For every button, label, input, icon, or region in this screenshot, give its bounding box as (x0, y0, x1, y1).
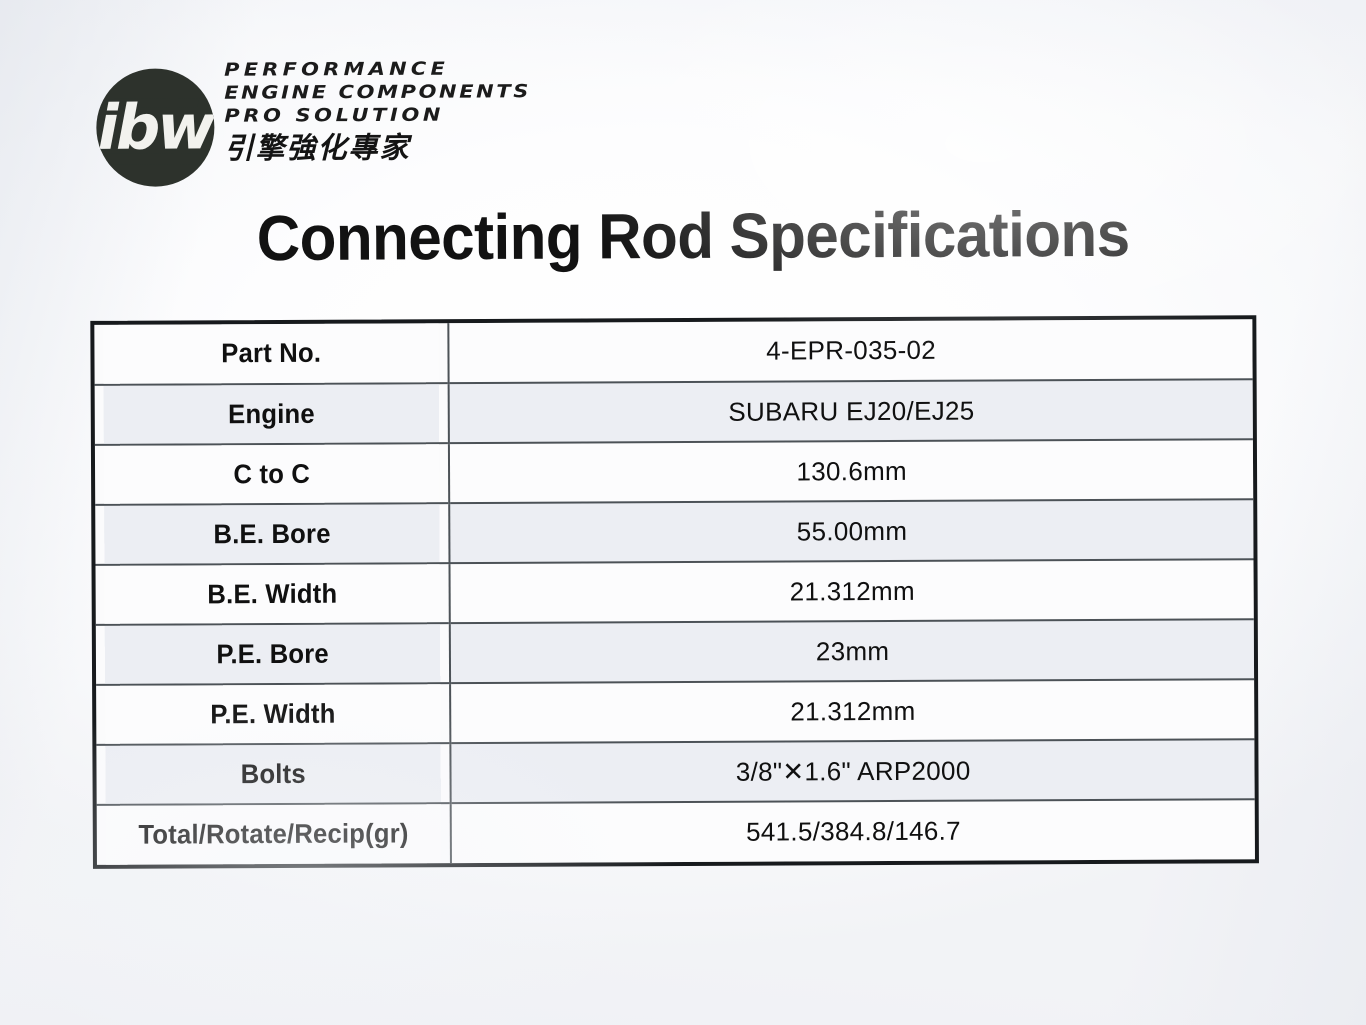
spec-label: Total/Rotate/Recip(gr) (106, 803, 443, 865)
tagline-line-1: PERFORMANCE (224, 58, 614, 80)
table-row: B.E. Bore 55.00mm (95, 499, 1253, 565)
logo-wordmark: ibw (96, 96, 215, 159)
spec-value: 21.312mm (450, 559, 1254, 623)
spec-table: Part No. 4-EPR-035-02 Engine SUBARU EJ20… (94, 319, 1255, 865)
spec-value: 55.00mm (450, 499, 1254, 563)
spec-value: 21.312mm (450, 679, 1254, 743)
ibw-logo-icon: ibw (96, 68, 215, 187)
page-title: Connecting Rod Specifications (40, 195, 1324, 277)
table-row: B.E. Width 21.312mm (95, 559, 1253, 625)
table-row: P.E. Bore 23mm (96, 619, 1254, 685)
chinese-tagline: 引擎強化專家 (224, 130, 614, 164)
spec-label: Engine (103, 383, 440, 445)
spec-value: 3/8"✕1.6" ARP2000 (451, 739, 1255, 803)
spec-value: SUBARU EJ20/EJ25 (449, 379, 1253, 443)
sheet-content: ibw PERFORMANCE ENGINE COMPONENTS PRO SO… (0, 0, 1366, 1025)
spec-label: Bolts (105, 743, 442, 805)
spec-label: Part No. (103, 323, 440, 385)
spec-value: 23mm (450, 619, 1254, 683)
spec-value: 4-EPR-035-02 (449, 319, 1253, 383)
spec-label: P.E. Width (105, 683, 442, 745)
spec-label: B.E. Bore (104, 503, 441, 565)
spec-value: 130.6mm (449, 439, 1253, 503)
spec-table-body: Part No. 4-EPR-035-02 Engine SUBARU EJ20… (94, 319, 1255, 865)
table-row: Engine SUBARU EJ20/EJ25 (95, 379, 1253, 445)
brand-tagline-group: PERFORMANCE ENGINE COMPONENTS PRO SOLUTI… (224, 58, 615, 164)
spec-label: C to C (104, 443, 441, 505)
spec-value: 541.5/384.8/146.7 (451, 799, 1255, 863)
brand-logo: ibw PERFORMANCE ENGINE COMPONENTS PRO SO… (96, 58, 617, 196)
table-row: Bolts 3/8"✕1.6" ARP2000 (96, 739, 1254, 805)
table-row: C to C 130.6mm (95, 439, 1253, 505)
tagline-line-3: PRO SOLUTION (224, 104, 614, 126)
spec-table-container: Part No. 4-EPR-035-02 Engine SUBARU EJ20… (90, 315, 1259, 869)
spec-label: B.E. Width (104, 563, 441, 625)
table-row: P.E. Width 21.312mm (96, 679, 1254, 745)
tagline-line-2: ENGINE COMPONENTS (224, 81, 614, 103)
table-row: Part No. 4-EPR-035-02 (94, 319, 1252, 385)
table-row: Total/Rotate/Recip(gr) 541.5/384.8/146.7 (97, 799, 1255, 865)
spec-sheet-photo: ibw PERFORMANCE ENGINE COMPONENTS PRO SO… (0, 0, 1366, 1025)
spec-label: P.E. Bore (105, 623, 442, 685)
